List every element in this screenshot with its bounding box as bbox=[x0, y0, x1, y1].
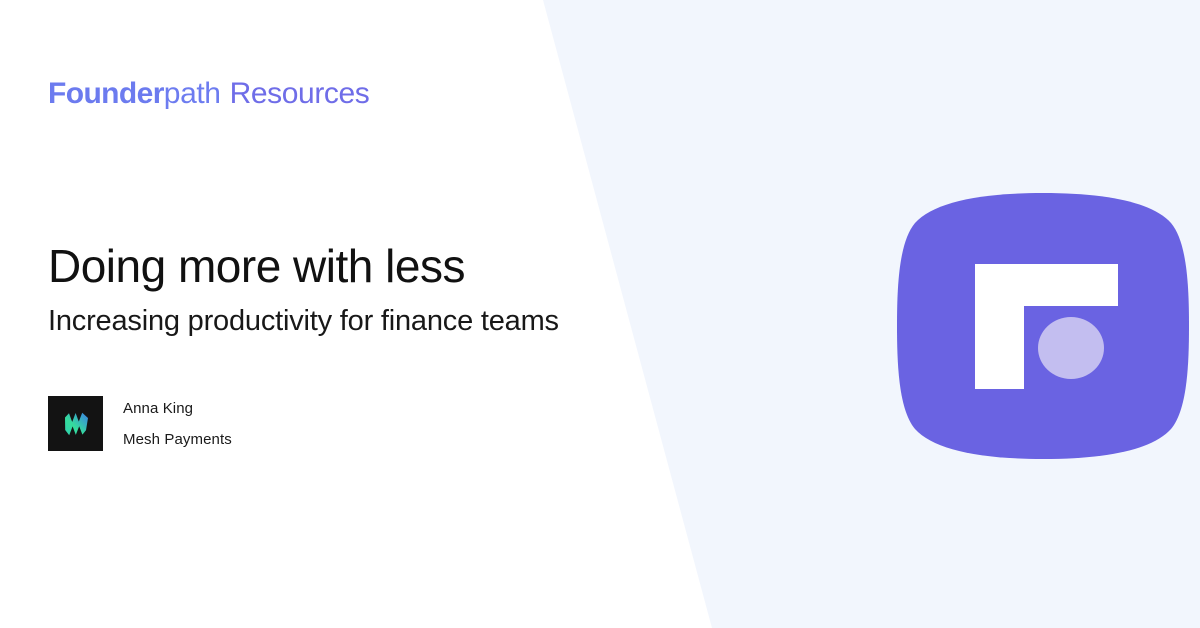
author-meta: Anna King Mesh Payments bbox=[123, 401, 232, 447]
avatar bbox=[48, 396, 103, 451]
page-title: Doing more with less bbox=[48, 241, 465, 293]
founderpath-logo-mark bbox=[897, 193, 1189, 459]
page-subtitle: Increasing productivity for finance team… bbox=[48, 304, 559, 339]
brand-path-text: path bbox=[164, 79, 221, 109]
brand-resources-text: Resources bbox=[230, 79, 370, 109]
author-company: Mesh Payments bbox=[123, 432, 232, 447]
brand-logotype[interactable]: Founderpath Resources bbox=[48, 79, 369, 109]
author-block: Anna King Mesh Payments bbox=[48, 396, 232, 451]
brand-founder-text: Founder bbox=[48, 79, 164, 109]
founderpath-squircle-icon bbox=[897, 193, 1189, 459]
mesh-payments-logo-icon bbox=[48, 396, 103, 451]
author-name: Anna King bbox=[123, 401, 232, 416]
social-share-card: Founderpath Resources Doing more with le… bbox=[0, 0, 1200, 628]
